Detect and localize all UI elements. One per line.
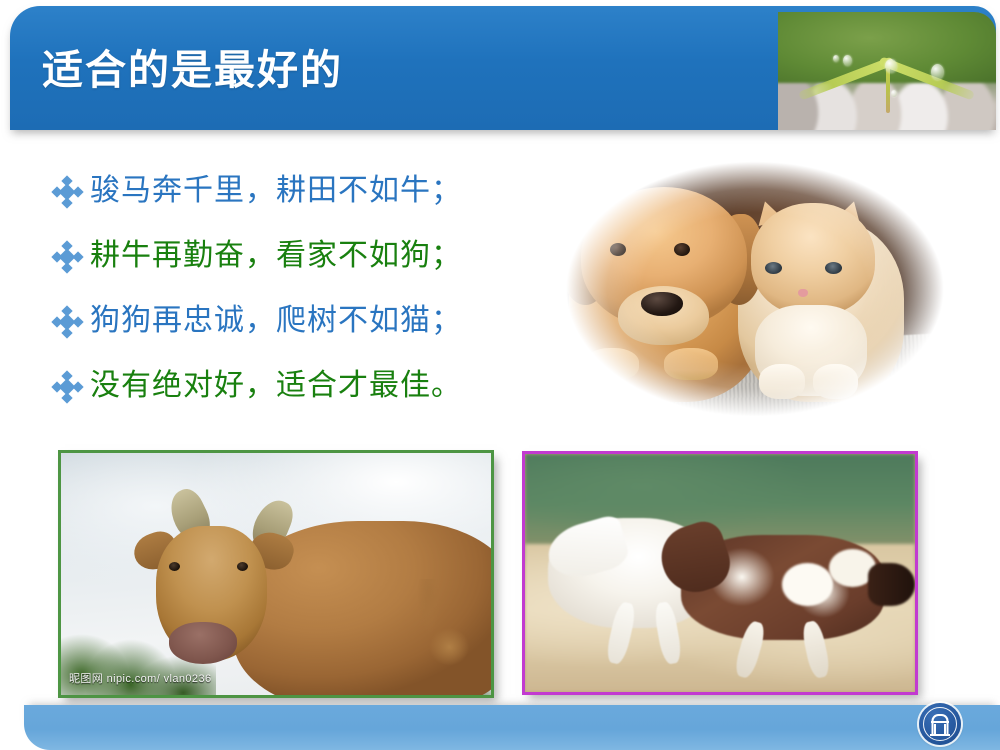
water-drop (833, 55, 839, 62)
seedling-sprout-photo (778, 12, 996, 130)
kitten-paw (813, 364, 859, 399)
photo-watermark: 昵图网 nipic.com/ vlan0236 (69, 670, 211, 686)
puppy-paw (664, 348, 718, 380)
bullet-text-3: 狗狗再忠诚，爬树不如猫； (90, 304, 462, 337)
bullet-text-2: 耕牛再勤奋，看家不如狗； (90, 239, 462, 272)
diamond-cluster-bullet-icon (52, 241, 90, 271)
diamond-cluster-bullet-icon (52, 176, 90, 206)
logo-gate-base (930, 734, 950, 736)
cow-eye-left (169, 562, 180, 571)
bullet-item-2: 耕牛再勤奋，看家不如狗； (52, 223, 522, 288)
ox-cow-photo: 昵图网 nipic.com/ vlan0236 (58, 450, 494, 698)
slide-canvas: 适合的是最好的 骏马奔千里，耕田不如牛； 耕牛再勤奋，看家不如狗； (0, 0, 1000, 750)
bullet-text-1: 骏马奔千里，耕田不如牛； (90, 174, 462, 207)
puppy-and-kitten-photo (548, 155, 962, 423)
page-title: 适合的是最好的 (42, 36, 343, 96)
bullet-item-1: 骏马奔千里，耕田不如牛； (52, 158, 522, 223)
bullet-item-3: 狗狗再忠诚，爬树不如猫； (52, 288, 522, 353)
bullet-text-4: 没有绝对好，适合才最佳。 (90, 369, 462, 402)
diamond-cluster-bullet-icon (52, 371, 90, 401)
pinto-horse-tail (868, 563, 915, 606)
kitten-paw (759, 364, 805, 399)
cow-snout (169, 622, 238, 663)
diamond-cluster-bullet-icon (52, 306, 90, 336)
bullet-item-4: 没有绝对好，适合才最佳。 (52, 353, 522, 418)
university-seal-logo (919, 703, 961, 745)
water-drop (931, 64, 944, 80)
pets-photo-inner (548, 155, 962, 423)
cow-tail (401, 579, 470, 666)
bullet-list: 骏马奔千里，耕田不如牛； 耕牛再勤奋，看家不如狗； 狗狗再忠诚，爬树不如猫； 没… (52, 158, 522, 418)
galloping-horses-photo (522, 451, 918, 695)
slide-header-band: 适合的是最好的 (10, 6, 996, 130)
kitten-head (751, 203, 875, 316)
puppy-paw (585, 348, 639, 380)
slide-footer-band (24, 705, 1000, 750)
puppy-nose (641, 292, 682, 316)
